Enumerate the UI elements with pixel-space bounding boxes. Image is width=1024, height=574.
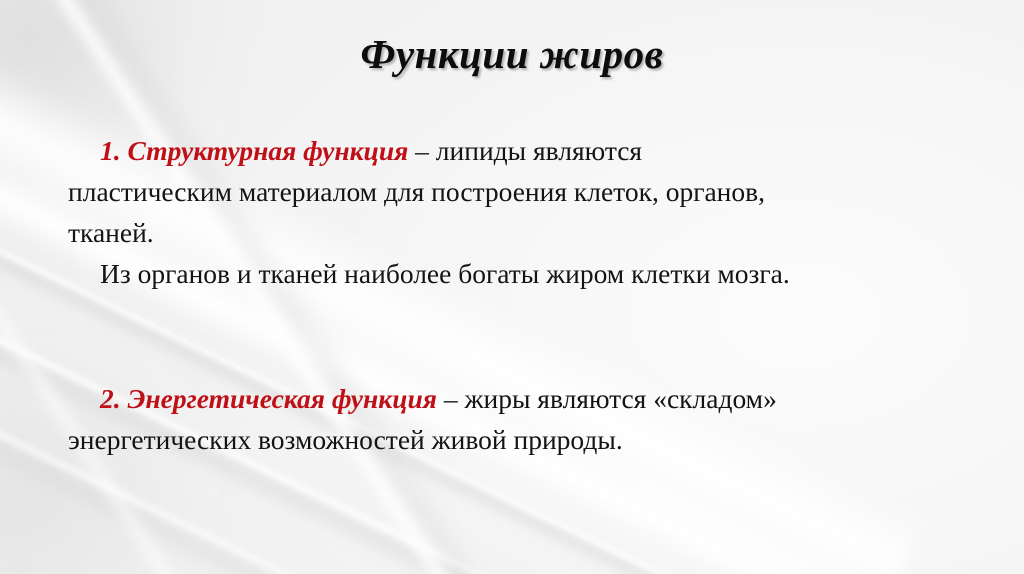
text-run: пластическим материалом для построения к… <box>68 176 765 207</box>
slide-content: Функции жиров 1. Структурная функция – л… <box>0 0 1024 574</box>
text-line: энергетических возможностей живой природ… <box>68 419 968 460</box>
paragraph-structural-function: 1. Структурная функция – липиды являются… <box>68 130 968 294</box>
term-structural-function: 1. Структурная функция <box>100 135 408 166</box>
text-run: – липиды являются <box>408 135 642 166</box>
text-line: 1. Структурная функция – липиды являются <box>68 130 968 171</box>
text-line: пластическим материалом для построения к… <box>68 171 968 212</box>
term-energy-function: 2. Энергетическая функция <box>100 383 437 414</box>
text-run: энергетических возможностей живой природ… <box>68 424 623 455</box>
text-line: 2. Энергетическая функция – жиры являютс… <box>68 378 968 419</box>
text-run: Из органов и тканей наиболее богаты жиро… <box>100 258 790 289</box>
slide-title: Функции жиров <box>0 30 1024 78</box>
text-line: тканей. <box>68 212 968 253</box>
text-run: тканей. <box>68 217 154 248</box>
text-line: Из органов и тканей наиболее богаты жиро… <box>68 253 968 294</box>
paragraph-energy-function: 2. Энергетическая функция – жиры являютс… <box>68 378 968 460</box>
slide-canvas: Функции жиров 1. Структурная функция – л… <box>0 0 1024 574</box>
text-run: – жиры являются «складом» <box>437 383 777 414</box>
